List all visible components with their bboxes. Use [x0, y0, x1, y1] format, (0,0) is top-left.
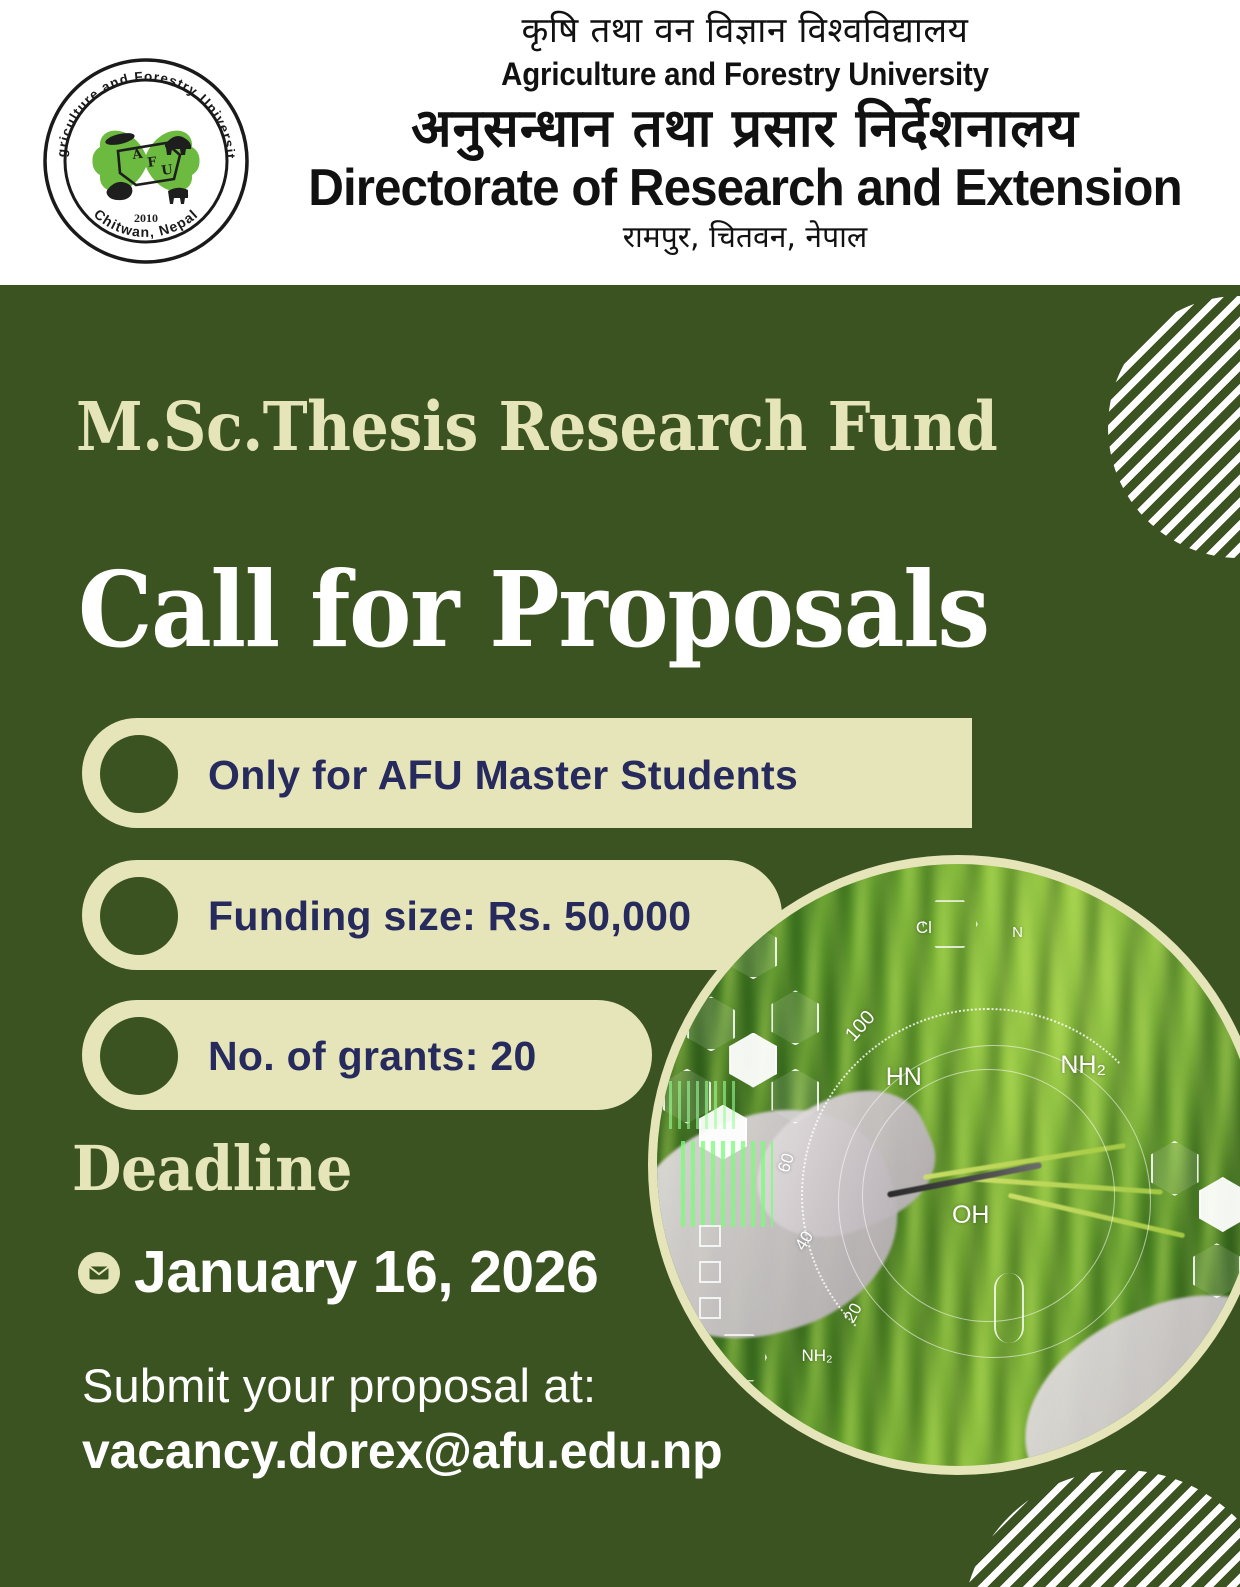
square-marker-icon: [699, 1225, 721, 1247]
bullet-marker-icon: [100, 735, 178, 813]
list-item-label: Only for AFU Master Students: [208, 752, 798, 799]
hud-ring-2: [838, 1045, 1151, 1358]
envelope-icon: [78, 1252, 120, 1294]
hud-label-h2: H₂: [1199, 936, 1219, 957]
submit-email-address[interactable]: vacancy.dorex@afu.edu.np: [82, 1422, 722, 1480]
header-text-block: कृषि तथा वन विज्ञान विश्वविद्यालय Agricu…: [265, 10, 1225, 256]
benzene-ring-icon: [711, 1334, 767, 1382]
deadline-heading: Deadline: [72, 1138, 352, 1200]
hexagon-icon: [1193, 1243, 1240, 1298]
header-address-nepali: रामपुर, चितवन, नेपाल: [265, 220, 1225, 256]
hud-label-n: N: [1012, 924, 1023, 941]
research-photo: Cl N H₂ 100 HN NH₂ OH 60 40 20 NH₂: [648, 855, 1240, 1475]
hud-label-oh: OH: [952, 1201, 990, 1230]
hud-label-60: 60: [774, 1151, 799, 1175]
square-marker-icon: [699, 1261, 721, 1283]
science-hud-overlay: Cl N H₂ 100 HN NH₂ OH 60 40 20 NH₂: [657, 864, 1240, 1466]
letterhead-header: A F U 2010 Agriculture and Forestry Univ…: [0, 0, 1240, 285]
hexagon-solid-icon: [1199, 1177, 1240, 1232]
hud-label-hn: HN: [886, 1063, 922, 1092]
hexagon-leaf-icon: [729, 1033, 777, 1088]
hud-label-nh2-lower: NH₂: [801, 1346, 832, 1366]
header-directorate-nepali: अनुसन्धान तथा प्रसार निर्देशनालय: [265, 98, 1225, 159]
hud-label-nh2: NH₂: [1060, 1051, 1106, 1080]
hud-label-100: 100: [841, 1006, 880, 1046]
svg-text:2010: 2010: [134, 211, 158, 225]
hexagon-icon: [771, 1069, 819, 1124]
hexagon-icon: [771, 990, 819, 1045]
header-directorate-english: Directorate of Research and Extension: [289, 160, 1201, 216]
header-university-english: Agriculture and Forestry University: [303, 55, 1186, 94]
square-marker-icon: [699, 1297, 721, 1319]
university-seal-icon: A F U 2010 Agriculture and Forestry Univ…: [40, 55, 252, 267]
hexagon-battery-icon: [687, 996, 735, 1051]
striped-circle-decoration-top-right: [1108, 296, 1240, 558]
submit-instruction: Submit your proposal at:: [82, 1358, 596, 1413]
header-university-nepali: कृषि तथा वन विज्ञान विश्वविद्यालय: [265, 10, 1225, 53]
bar-graph-overlay: [681, 1141, 773, 1227]
deadline-date: January 16, 2026: [134, 1243, 598, 1302]
page-title: Call for Proposals: [78, 558, 989, 662]
list-item-label: Funding size: Rs. 50,000: [208, 893, 691, 940]
striped-circle-decoration-bottom-right: [962, 1470, 1240, 1587]
hexagon-icon: [729, 924, 777, 979]
bar-graph-overlay-small: [669, 1081, 741, 1129]
research-photo-image: Cl N H₂ 100 HN NH₂ OH 60 40 20 NH₂: [657, 864, 1240, 1466]
poster-canvas: A F U 2010 Agriculture and Forestry Univ…: [0, 0, 1240, 1587]
bullet-marker-icon: [100, 877, 178, 955]
eyebrow-title: M.Sc.Thesis Research Fund: [76, 393, 997, 460]
list-item-label: No. of grants: 20: [208, 1033, 537, 1080]
bullet-marker-icon: [100, 1017, 178, 1095]
deadline-row: January 16, 2026: [78, 1243, 598, 1302]
hud-label-cl: Cl: [916, 918, 932, 938]
